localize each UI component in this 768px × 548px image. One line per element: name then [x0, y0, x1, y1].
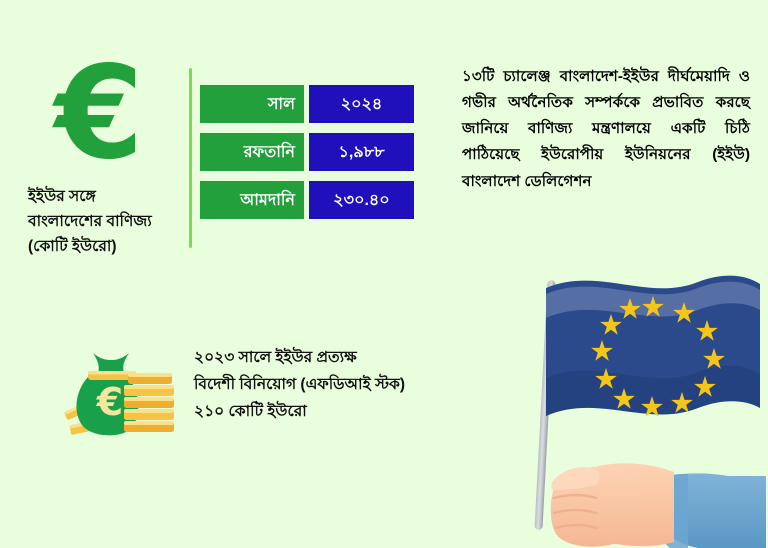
money-bag-with-coins-icon: €: [62, 333, 180, 445]
table-cell-value: ২০২৪: [309, 85, 414, 123]
news-paragraph: ১৩টি চ্যালেঞ্জ বাংলাদেশ-ইইউর দীর্ঘমেয়াদ…: [462, 64, 750, 195]
fdi-block: € ২০২৩ সালে ইইউর প্রত্যক্ষ বিদেশী বিনিয়…: [62, 333, 405, 445]
fdi-text-line-2: বিদেশী বিনিয়োগ (এফডিআই স্টক): [194, 372, 405, 399]
euro-caption: ইইউর সঙ্গে বাংলাদেশের বাণিজ্য (কোটি ইউরো…: [18, 184, 178, 259]
table-cell-label: আমদানি: [200, 181, 304, 219]
fdi-text-line-3: ২১০ কোটি ইউরো: [194, 399, 405, 426]
euro-currency-icon: €: [18, 50, 178, 178]
vertical-divider: [189, 68, 192, 248]
hand-holding-eu-flag-icon: [498, 258, 768, 548]
fdi-text-line-1: ২০২৩ সালে ইইউর প্রত্যক্ষ: [194, 345, 405, 372]
table-cell-label: সাল: [200, 85, 304, 123]
table-cell-value: ১,৯৮৮: [309, 133, 414, 171]
svg-text:€: €: [96, 380, 123, 424]
table-cell-value: ২৩০.৪০: [309, 181, 414, 219]
euro-caption-line-2: বাংলাদেশের বাণিজ্য: [28, 209, 178, 234]
table-row: আমদানি ২৩০.৪০: [200, 181, 414, 219]
euro-caption-line-3: (কোটি ইউরো): [28, 234, 178, 259]
trade-data-table: সাল ২০২৪ রফতানি ১,৯৮৮ আমদানি ২৩০.৪০: [200, 85, 414, 229]
infographic-canvas: € ইইউর সঙ্গে বাংলাদেশের বাণিজ্য (কোটি ইউ…: [0, 0, 768, 548]
fdi-text: ২০২৩ সালে ইইউর প্রত্যক্ষ বিদেশী বিনিয়োগ…: [194, 345, 405, 426]
table-row: সাল ২০২৪: [200, 85, 414, 123]
euro-trade-block: € ইইউর সঙ্গে বাংলাদেশের বাণিজ্য (কোটি ইউ…: [18, 50, 178, 259]
table-row: রফতানি ১,৯৮৮: [200, 133, 414, 171]
table-cell-label: রফতানি: [200, 133, 304, 171]
